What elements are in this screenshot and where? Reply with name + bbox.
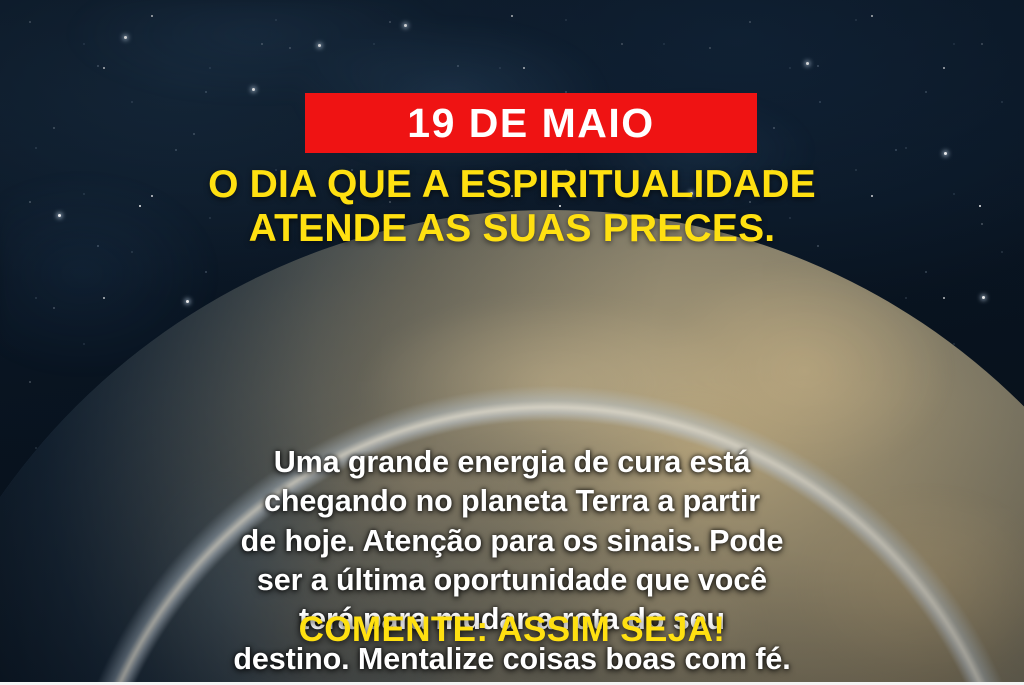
call-to-action-text: COMENTE: ASSIM SEJA! [0,612,1024,647]
headline-line-2: ATENDE AS SUAS PRECES. [0,207,1024,251]
date-badge-label: 19 DE MAIO [407,103,654,144]
date-badge: 19 DE MAIO [305,93,757,153]
body-line-4: ser a última oportunidade que você [52,561,972,600]
body-line-2: chegando no planeta Terra a partir [52,482,972,521]
body-line-3: de hoje. Atenção para os sinais. Pode [52,522,972,561]
headline-line-1: O DIA QUE A ESPIRITUALIDADE [208,163,816,206]
poster-content: 19 DE MAIO O DIA QUE A ESPIRITUALIDADE A… [0,0,1024,685]
poster-image: 19 DE MAIO O DIA QUE A ESPIRITUALIDADE A… [0,0,1024,685]
headline: O DIA QUE A ESPIRITUALIDADE ATENDE AS SU… [0,163,1024,250]
body-line-1: Uma grande energia de cura está [52,443,972,482]
